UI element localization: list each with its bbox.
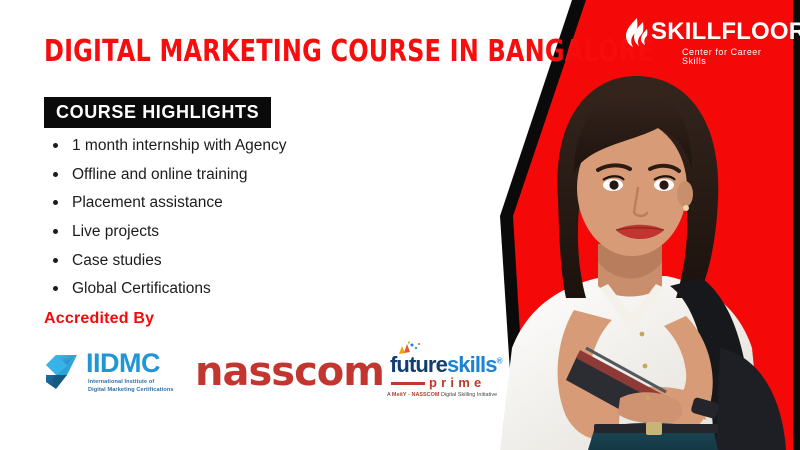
- bullet-dot-icon: [53, 229, 58, 234]
- page-title: DIGITAL MARKETING COURSE IN BANGALORE: [44, 36, 444, 68]
- bullet-dot-icon: [53, 200, 58, 205]
- list-item-label: Case studies: [72, 252, 162, 269]
- highlights-list: 1 month internship with Agency Offline a…: [50, 138, 480, 310]
- tagline-meity: MeitY: [392, 392, 407, 398]
- prime-rule: [391, 382, 425, 385]
- student-photo: [470, 48, 800, 450]
- course-highlights-badge: COURSE HIGHLIGHTS: [44, 97, 271, 128]
- bullet-dot-icon: [53, 143, 58, 148]
- nasscom-wordmark: nasscom: [195, 352, 384, 392]
- skillfloor-logo[interactable]: SKILLFLOOR Center for Career Skills: [624, 16, 784, 62]
- skillfloor-name: SKILLFLOOR: [651, 20, 800, 44]
- list-item: Live projects: [50, 224, 480, 240]
- iidmc-logo: IIDMC International Institute of Digital…: [43, 344, 188, 402]
- list-item-label: Offline and online training: [72, 166, 248, 183]
- list-item: Case studies: [50, 253, 480, 269]
- accredited-by-label: Accredited By: [44, 311, 154, 327]
- iidmc-subtitle: International Institute of Digital Marke…: [88, 378, 193, 394]
- list-item: Global Certifications: [50, 281, 480, 297]
- iidmc-subtitle-line2: Digital Marketing Certifications: [88, 386, 193, 394]
- list-item: 1 month internship with Agency: [50, 138, 480, 154]
- marketing-banner: DIGITAL MARKETING COURSE IN BANGALORE CO…: [0, 0, 800, 450]
- bullet-dot-icon: [53, 172, 58, 177]
- tagline-nasscom: NASSCOM: [412, 392, 440, 398]
- list-item-label: Live projects: [72, 223, 159, 240]
- skillfloor-flame-icon: [624, 18, 648, 48]
- list-item: Offline and online training: [50, 167, 480, 183]
- bullet-dot-icon: [53, 286, 58, 291]
- list-item-label: 1 month internship with Agency: [72, 137, 287, 154]
- list-item-label: Placement assistance: [72, 194, 223, 211]
- iidmc-wordmark: IIDMC: [86, 350, 160, 377]
- list-item-label: Global Certifications: [72, 280, 211, 297]
- iidmc-subtitle-line1: International Institute of: [88, 378, 193, 386]
- futureskills-word-future: future: [390, 352, 447, 377]
- accreditation-logo-strip: IIDMC International Institute of Digital…: [40, 340, 530, 410]
- list-item: Placement assistance: [50, 195, 480, 211]
- bullet-dot-icon: [53, 258, 58, 263]
- skillfloor-tagline: Center for Career Skills: [682, 48, 784, 66]
- iidmc-diamond-icon: [43, 352, 83, 392]
